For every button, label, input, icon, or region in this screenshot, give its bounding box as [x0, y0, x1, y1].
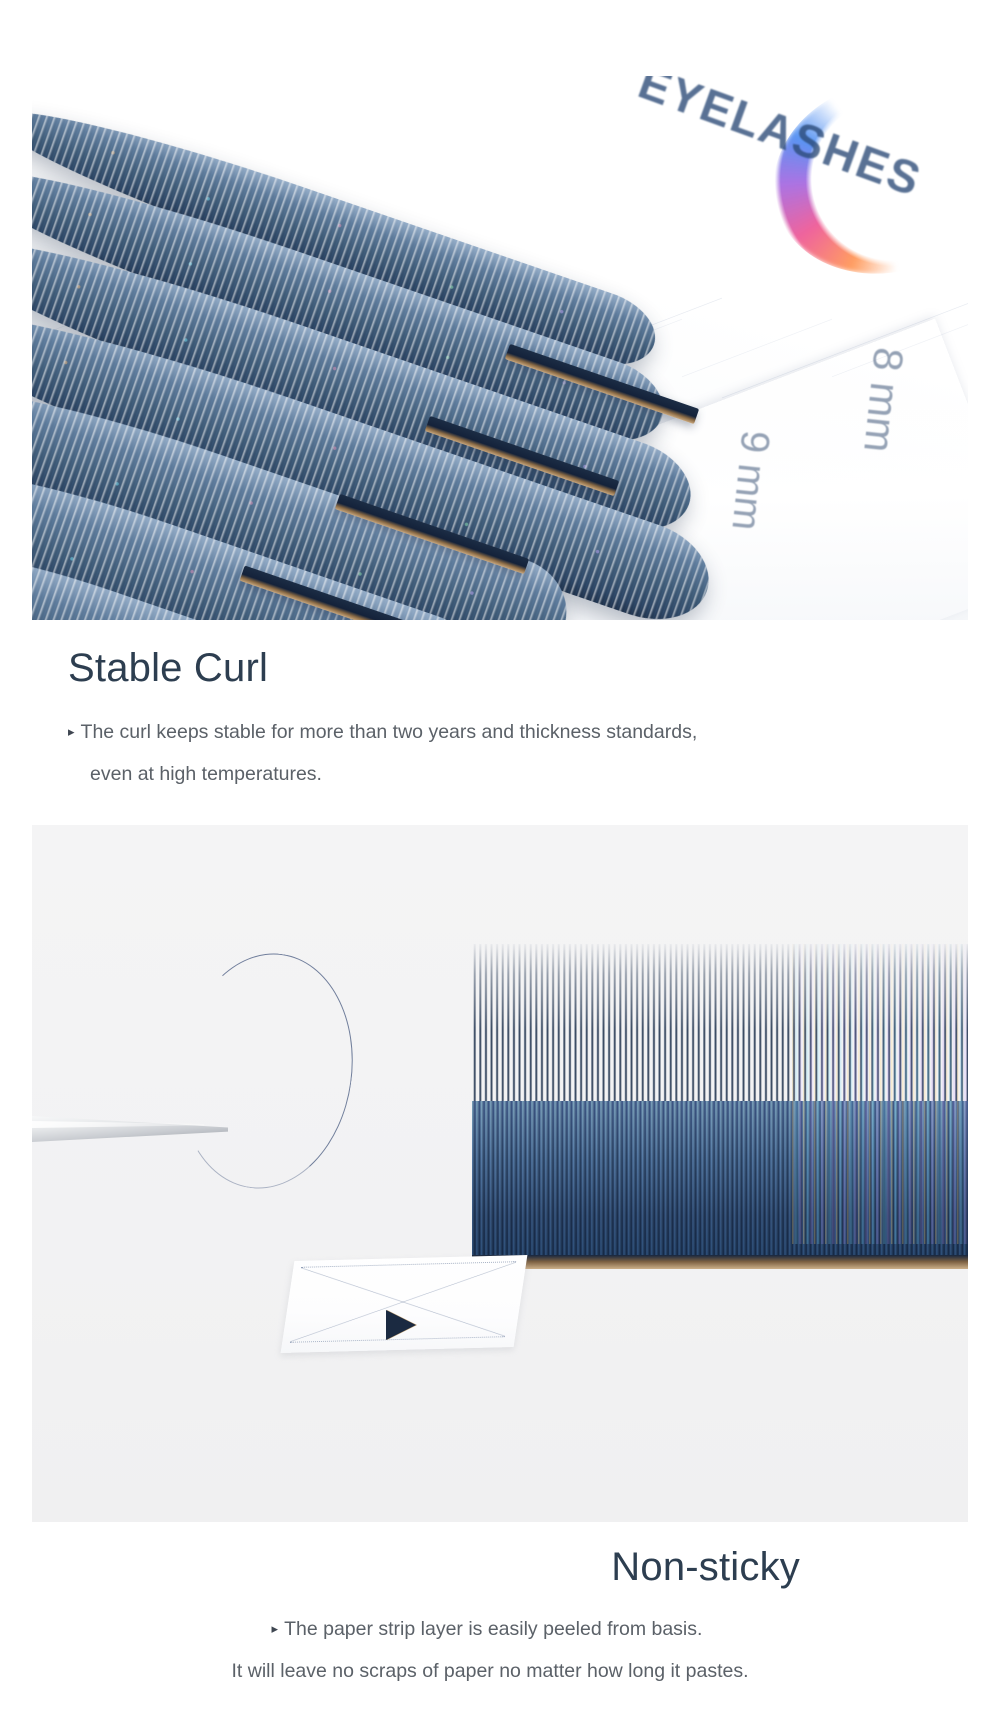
section-title-stable-curl: Stable Curl	[68, 646, 268, 690]
peel-direction-arrow-icon	[386, 1310, 416, 1340]
lash-tray-macro-photo: EYELASHES 8 mm 9 mm	[32, 76, 968, 620]
product-detail-page: EYELASHES 8 mm 9 mm Stable Cu	[0, 0, 1000, 1732]
bullet-item: ▸The paper strip layer is easily peeled …	[0, 1609, 1000, 1651]
bullet-text: It will leave no scraps of paper no matt…	[231, 1660, 748, 1682]
bullet-item: even at high temperatures.	[68, 754, 697, 795]
bullet-marker-icon: ▸	[68, 724, 75, 739]
section-title-non-sticky: Non-sticky	[611, 1545, 800, 1589]
bullet-item: ▸The curl keeps stable for more than two…	[68, 712, 697, 754]
non-sticky-bullet-list: ▸The paper strip layer is easily peeled …	[0, 1609, 1000, 1692]
non-sticky-strip-photo	[32, 825, 968, 1522]
bullet-item: It will leave no scraps of paper no matt…	[0, 1651, 1000, 1692]
peeling-paper-strip	[288, 1258, 520, 1350]
lash-strip-adhesive-base	[472, 1255, 968, 1269]
bullet-text: The curl keeps stable for more than two …	[81, 721, 698, 743]
bullet-marker-icon: ▸	[272, 1621, 279, 1636]
iridescent-sparkle	[792, 944, 968, 1244]
bullet-text: even at high temperatures.	[90, 763, 322, 785]
bullet-text: The paper strip layer is easily peeled f…	[284, 1618, 702, 1640]
stable-curl-bullet-list: ▸The curl keeps stable for more than two…	[68, 712, 697, 795]
